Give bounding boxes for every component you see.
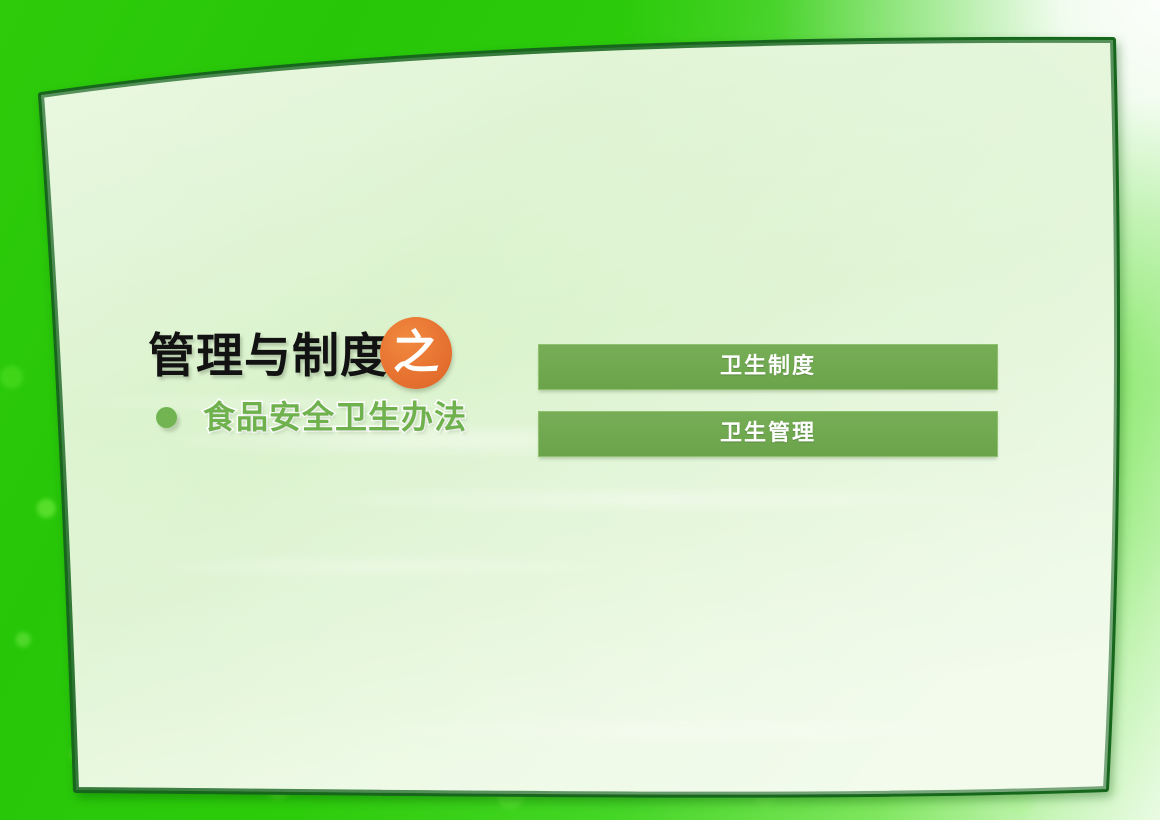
title-block: 管理与制度 之 食品安全卫生办法 bbox=[148, 325, 508, 433]
zhi-badge: 之 bbox=[380, 317, 452, 389]
subtitle-row: 食品安全卫生办法 bbox=[156, 401, 508, 433]
bullet-dot-icon bbox=[156, 407, 177, 428]
hygiene-system-button[interactable]: 卫生制度 bbox=[538, 344, 998, 390]
hygiene-management-button-label: 卫生管理 bbox=[720, 423, 816, 445]
page-title: 管理与制度 bbox=[148, 333, 388, 380]
zhi-badge-label: 之 bbox=[393, 329, 439, 375]
navigation-button-stack: 卫生制度 卫生管理 bbox=[538, 344, 998, 457]
slide-content: 管理与制度 之 食品安全卫生办法 卫生制度 卫生管理 bbox=[0, 0, 1160, 820]
page-subtitle: 食品安全卫生办法 bbox=[203, 401, 467, 433]
slide-root: 管理与制度 之 食品安全卫生办法 卫生制度 卫生管理 bbox=[0, 0, 1160, 820]
hygiene-system-button-label: 卫生制度 bbox=[720, 356, 816, 378]
hygiene-management-button[interactable]: 卫生管理 bbox=[538, 411, 998, 457]
main-title-row: 管理与制度 之 bbox=[148, 325, 508, 387]
